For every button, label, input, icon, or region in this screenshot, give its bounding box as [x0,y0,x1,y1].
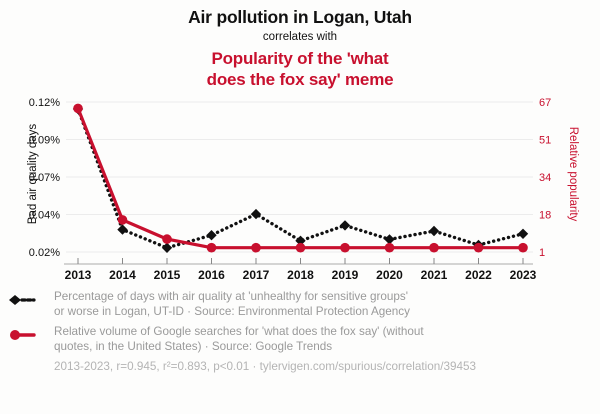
legend-item-air-pollution: Percentage of days with air quality at '… [8,290,600,319]
data-point-marker [251,209,261,219]
x-axis-label: 2023 [510,268,537,282]
data-point-marker [429,243,439,253]
x-axis-label: 2020 [376,268,403,282]
circle-solid-line-icon [8,325,54,346]
right-axis-tick: 34 [539,172,551,184]
data-point-marker [251,243,261,253]
data-point-marker [296,243,306,253]
left-axis-title: Bad air quality days [27,94,39,254]
data-point-marker [340,220,350,230]
title-block: Air pollution in Logan, Utah correlates … [0,0,600,90]
legend-item-air-pollution-text: Percentage of days with air quality at '… [54,290,410,319]
page-subtitle-line2: does the fox say' meme [0,69,600,90]
data-point-marker [162,234,172,244]
data-point-marker [474,243,484,253]
data-point-marker [385,243,395,253]
data-point-marker [340,243,350,253]
data-point-marker [73,104,83,114]
data-point-marker [207,243,217,253]
legend-line-2: or worse in Logan, UT-ID · Source: Envir… [54,305,410,320]
title-connector: correlates with [0,29,600,46]
page-subtitle: Popularity of the 'what does the fox say… [0,48,600,90]
data-point-marker [162,243,172,253]
x-axis-label: 2017 [243,268,270,282]
chart-area: Bad air quality days Relative popularity… [0,94,600,284]
legend-line-2: quotes, in the United States) · Source: … [54,340,424,355]
legend-item-fox-say: Relative volume of Google searches for '… [8,325,600,354]
correlation-line-chart: 0.12%670.09%510.07%340.04%180.02%1201320… [0,94,600,284]
legend: Percentage of days with air quality at '… [0,290,600,354]
legend-line-1: Percentage of days with air quality at '… [54,290,410,305]
data-point-marker [518,229,528,239]
legend-line-1: Relative volume of Google searches for '… [54,325,424,340]
right-axis-tick: 67 [539,97,551,109]
right-axis-title: Relative popularity [567,94,579,254]
data-point-marker [117,224,127,234]
page-subtitle-line1: Popularity of the 'what [0,48,600,69]
series-line-1 [78,109,523,248]
data-point-marker [206,230,216,240]
legend-item-fox-say-text: Relative volume of Google searches for '… [54,325,424,354]
x-axis-label: 2013 [65,268,92,282]
x-axis-label: 2014 [109,268,136,282]
data-point-marker [118,215,128,225]
x-axis-label: 2021 [421,268,448,282]
x-axis-label: 2022 [465,268,492,282]
data-point-marker [518,243,528,253]
x-axis-label: 2019 [332,268,359,282]
series-line-2 [78,108,523,247]
page-title: Air pollution in Logan, Utah [0,6,600,28]
right-axis-tick: 51 [539,135,551,147]
right-axis-tick: 18 [539,210,551,222]
right-axis-tick: 1 [539,247,545,259]
data-point-marker [429,226,439,236]
x-axis-label: 2018 [287,268,314,282]
x-axis-label: 2015 [154,268,181,282]
diamond-dotted-line-icon [8,290,54,311]
footer-stats: 2013-2023, r=0.945, r²=0.893, p<0.01 · t… [0,360,600,373]
x-axis-label: 2016 [198,268,225,282]
